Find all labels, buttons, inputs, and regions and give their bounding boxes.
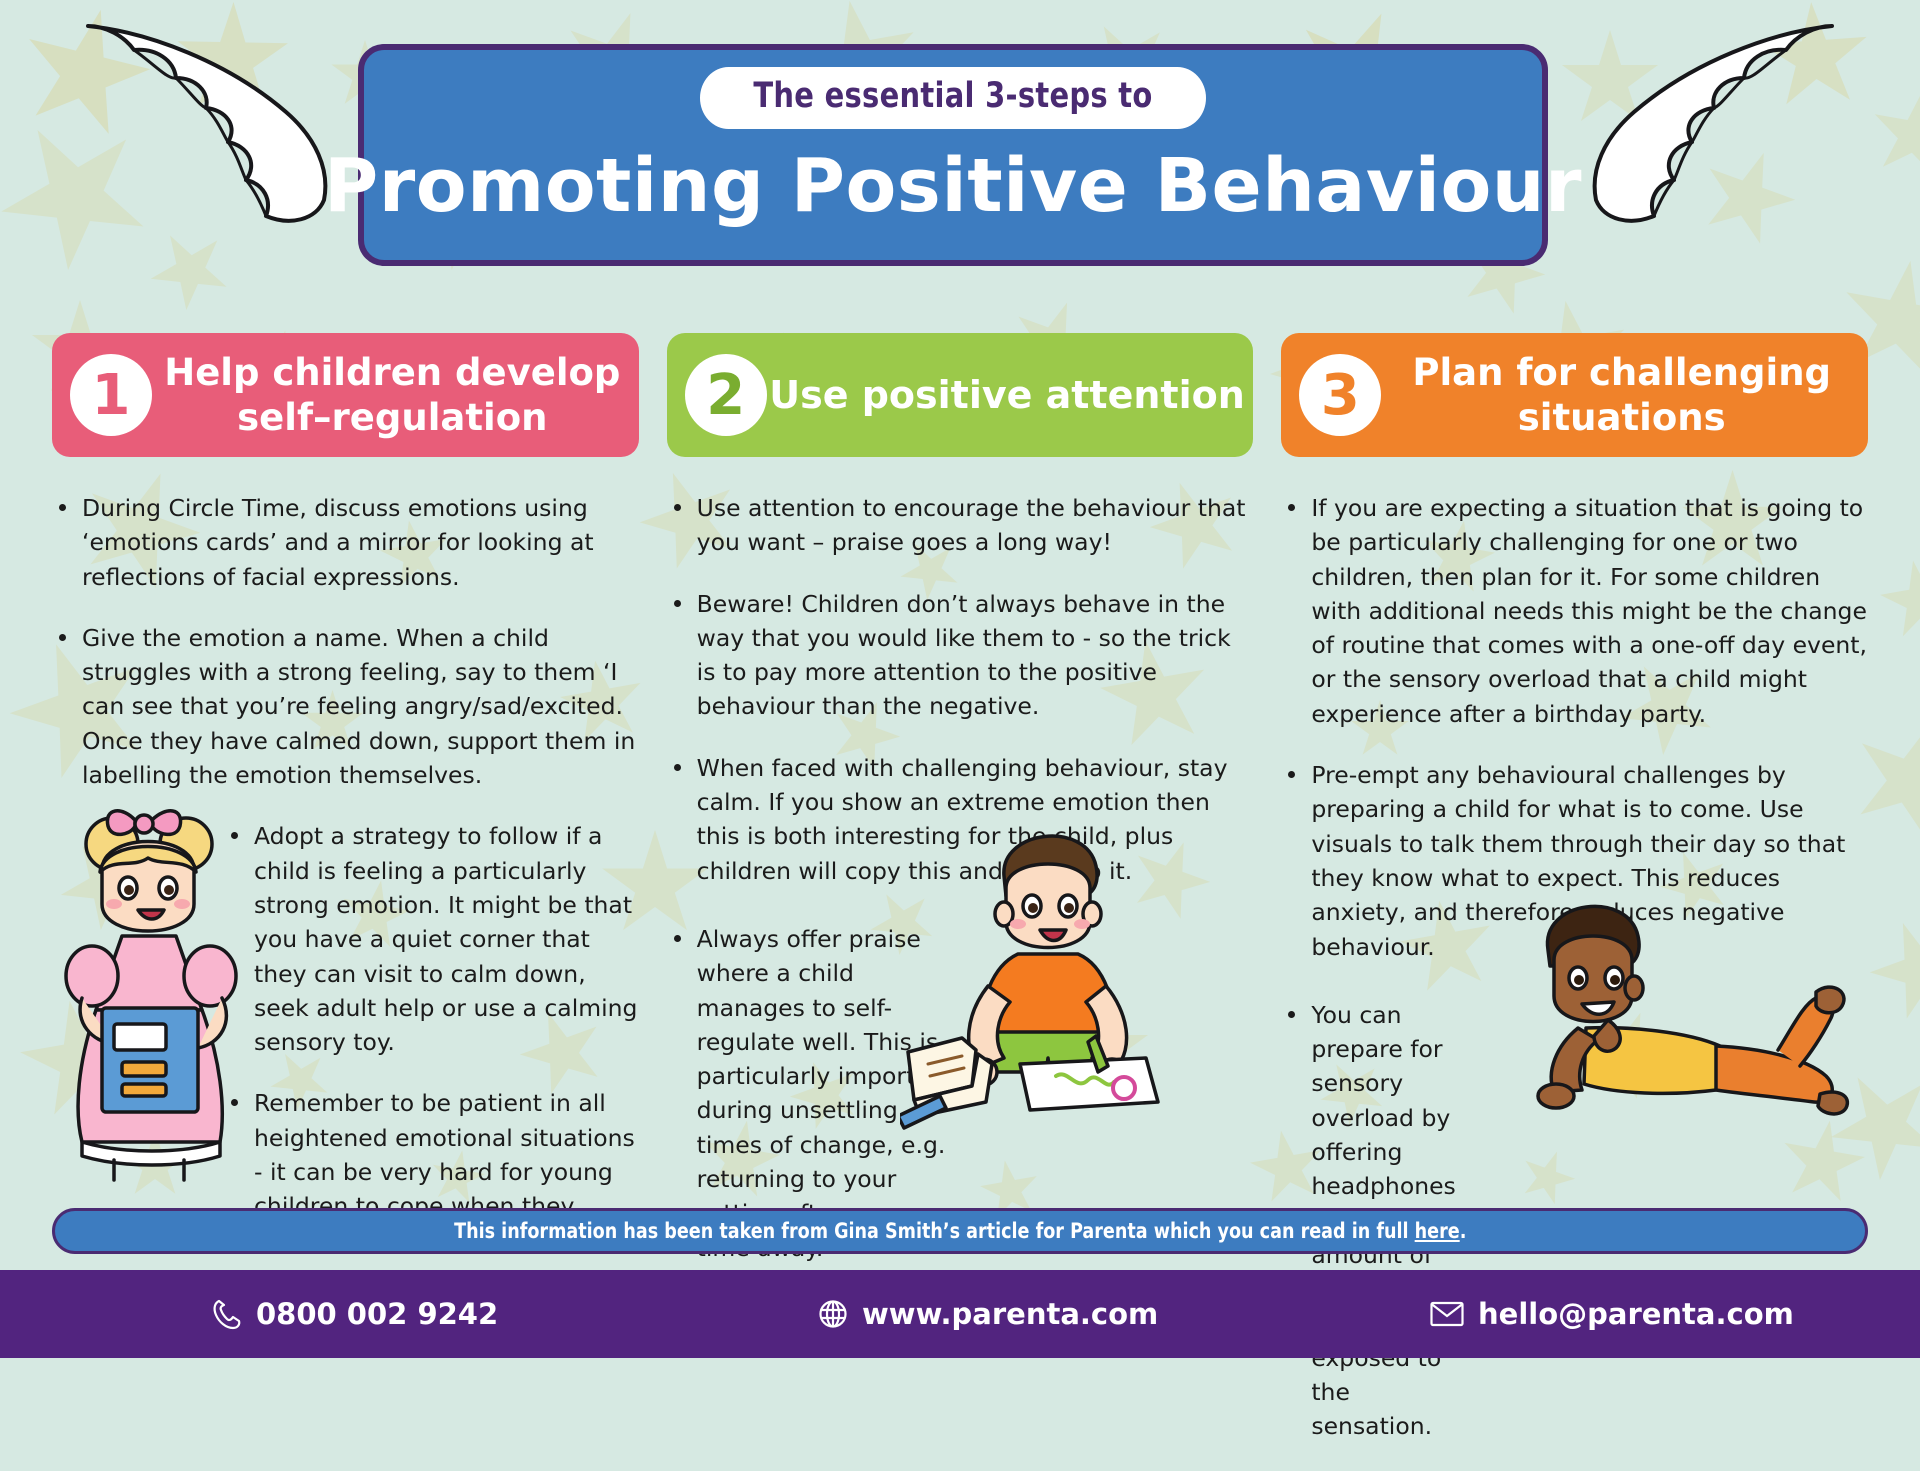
star-decoration <box>174 1 291 118</box>
step-1-title: Help children develop self–regulation <box>152 350 639 440</box>
step-1-number: 1 <box>70 354 152 436</box>
source-attribution-bar: This information has been taken from Gin… <box>52 1208 1868 1254</box>
star-decoration <box>1687 137 1809 259</box>
list-item: Beware! Children don’t always behave in … <box>667 587 1254 724</box>
star-decoration <box>1560 30 1660 130</box>
footer-phone[interactable]: 0800 002 9242 <box>212 1297 498 1331</box>
source-text: This information has been taken from Gin… <box>454 1219 1466 1243</box>
step-3-header: 3 Plan for challenging situations <box>1281 333 1868 457</box>
source-text-after: . <box>1459 1219 1466 1243</box>
header-banner: The essential 3-steps to Promoting Posit… <box>358 44 1548 266</box>
step-2-header: 2 Use positive attention <box>667 333 1254 457</box>
footer-phone-text: 0800 002 9242 <box>256 1297 498 1331</box>
girl-with-book-illustration <box>52 800 282 1190</box>
step-2-title: Use positive attention <box>767 372 1254 418</box>
source-here-link[interactable]: here <box>1414 1219 1459 1243</box>
right-wing-decoration <box>1562 14 1862 234</box>
page-title: Promoting Positive Behaviour <box>324 143 1582 229</box>
step-1-header: 1 Help children develop self–regulation <box>52 333 639 457</box>
list-item: Give the emotion a name. When a child st… <box>52 621 639 792</box>
footer-email-text: hello@parenta.com <box>1478 1297 1794 1331</box>
envelope-icon <box>1430 1301 1464 1327</box>
star-decoration <box>1756 0 1873 116</box>
contact-footer: 0800 002 9242 www.parenta.com hello@pare… <box>0 1270 1920 1358</box>
star-decoration <box>1863 83 1920 187</box>
phone-icon <box>212 1298 242 1330</box>
source-text-before: This information has been taken from Gin… <box>454 1219 1415 1243</box>
step-2-number: 2 <box>685 354 767 436</box>
star-decoration <box>135 215 244 324</box>
step-3-number: 3 <box>1299 354 1381 436</box>
boy-drawing-illustration <box>900 810 1230 1135</box>
step-3-title: Plan for challenging situations <box>1381 350 1868 440</box>
boy-lying-down-illustration <box>1520 880 1860 1135</box>
footer-email[interactable]: hello@parenta.com <box>1430 1297 1794 1331</box>
header-kicker: The essential 3-steps to <box>700 67 1206 129</box>
footer-website-text: www.parenta.com <box>862 1297 1158 1331</box>
step-1-bullet-list: During Circle Time, discuss emotions usi… <box>52 491 639 792</box>
step-1-indented-bullet-list: Adopt a strategy to follow if a child is… <box>224 819 639 1258</box>
list-item: During Circle Time, discuss emotions usi… <box>52 491 639 594</box>
list-item: If you are expecting a situation that is… <box>1281 491 1868 731</box>
list-item: Use attention to encourage the behaviour… <box>667 491 1254 560</box>
globe-icon <box>818 1299 848 1329</box>
left-wing-decoration <box>58 14 358 234</box>
star-decoration <box>6 0 164 152</box>
list-item: Adopt a strategy to follow if a child is… <box>224 819 639 1059</box>
footer-website[interactable]: www.parenta.com <box>818 1297 1158 1331</box>
star-decoration <box>0 93 177 298</box>
